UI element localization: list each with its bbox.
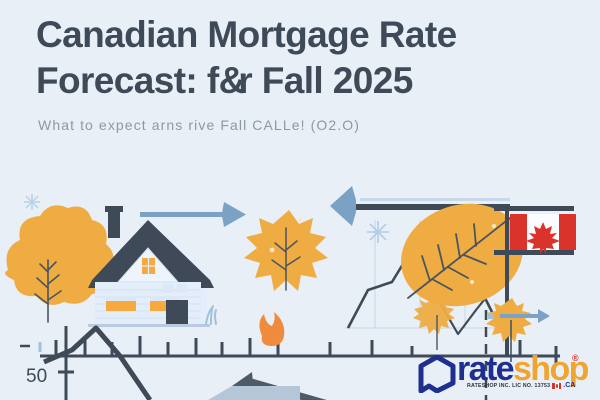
title-ampersand: & [219,60,239,101]
logo-legal-line: RATESHOP INC. LIC NO. 13753 .CA [467,382,575,389]
title-line-2: Forecast: f&r Fall 2025 [36,58,576,104]
page-subtitle: What to expect arns rive Fall CALLe! (O2… [38,116,578,134]
snowflake-icon-left [24,194,40,210]
title-line-2-suffix: r Fall 2025 [238,60,412,101]
rateshop-hex-icon [417,355,457,393]
title-line-1: Canadian Mortgage Rate [36,14,457,55]
logo-domain-text: .CA [563,382,575,389]
article-hero-banner: Canadian Mortgage Rate Forecast: f&r Fal… [0,0,600,400]
banner-header: Canadian Mortgage Rate Forecast: f&r Fal… [0,0,600,165]
canadian-flag-mini-icon [552,383,561,389]
logo-licence-text: RATESHOP INC. LIC NO. 13753 [467,383,550,389]
page-title: Canadian Mortgage Rate Forecast: f&r Fal… [36,12,576,104]
registered-trademark-icon: ® [572,353,579,363]
rateshop-logo[interactable]: rateshop ® RATESHOP INC. LIC NO. 13753 .… [417,352,597,398]
axis-tick-label-50: 50 [26,366,47,387]
snowflake-icon-chart [367,221,389,243]
title-line-2-prefix: Forecast: f [36,60,219,101]
